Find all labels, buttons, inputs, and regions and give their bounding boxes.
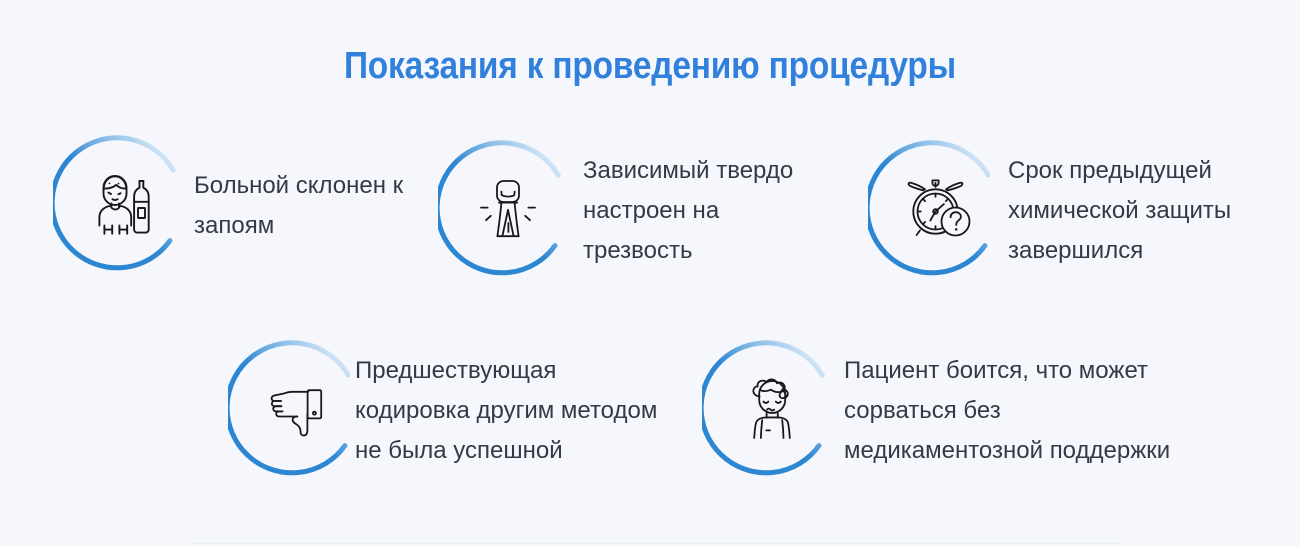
list-item: Больной склонен к запоям	[53, 133, 453, 279]
bottom-divider	[190, 543, 1120, 544]
list-item: Предшествующая кодировка другим методом …	[228, 338, 698, 484]
list-item: Пациент боится, что может сорваться без …	[702, 338, 1202, 484]
icon-ring	[53, 133, 193, 273]
list-item-label: Срок предыдущей химической защиты заверш…	[1008, 151, 1298, 271]
list-item-label: Пациент боится, что может сорваться без …	[844, 351, 1204, 471]
infographic-page: Показания к проведению процедуры	[0, 0, 1300, 546]
list-item: Срок предыдущей химической защиты заверш…	[868, 138, 1288, 284]
list-item-label: Предшествующая кодировка другим методом …	[355, 351, 705, 471]
list-item: Зависимый твердо настроен на трезвость	[438, 138, 838, 284]
icon-ring	[868, 138, 1008, 278]
list-item-label: Больной склонен к запоям	[194, 166, 464, 246]
icon-ring	[438, 138, 578, 278]
icon-ring	[702, 338, 842, 478]
page-title: Показания к проведению процедуры	[78, 44, 1222, 88]
icon-ring	[228, 338, 368, 478]
list-item-label: Зависимый твердо настроен на трезвость	[583, 151, 843, 271]
